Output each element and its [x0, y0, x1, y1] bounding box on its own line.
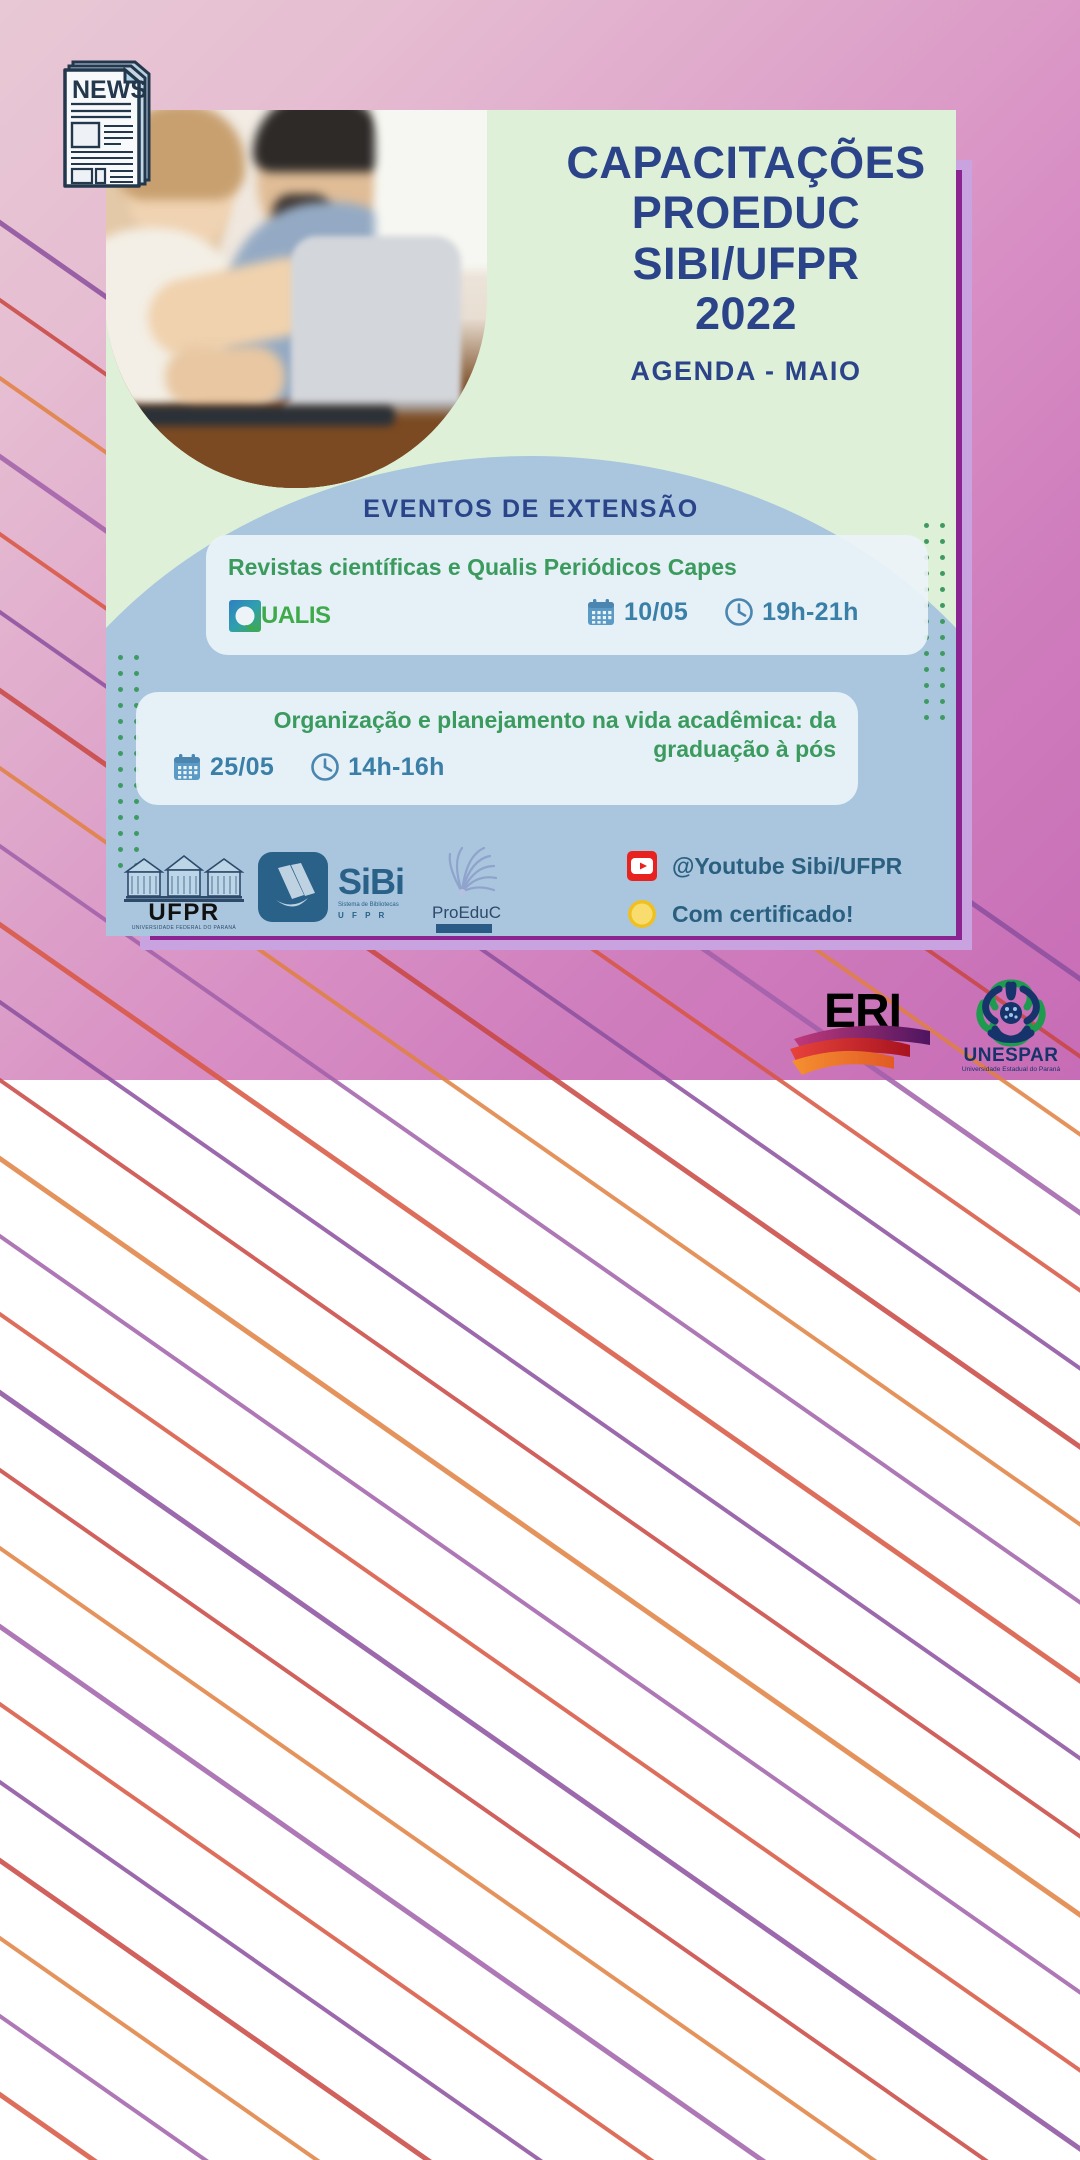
event-time-text: 14h-16h: [348, 753, 445, 782]
dot: [924, 715, 929, 720]
event-date-text: 25/05: [210, 753, 274, 782]
event-title: Revistas científicas e Qualis Periódicos…: [228, 553, 908, 582]
event-time: 14h-16h: [310, 752, 445, 782]
proeduc-logo-text: ProEduC: [432, 903, 501, 922]
dot: [940, 635, 945, 640]
clock-icon: [724, 597, 754, 627]
dot: [940, 683, 945, 688]
two-people-at-laptop-photo: [106, 110, 487, 488]
dot: [134, 655, 139, 660]
poster-title-block: CAPACITAÇÕES PROEDUC SIBI/UFPR 2022 AGEN…: [536, 138, 956, 387]
qualis-logo: UALIS: [228, 599, 331, 633]
title-line-1: CAPACITAÇÕES: [536, 138, 956, 188]
sibi-logo-subtext2: U F P R: [338, 911, 387, 920]
dot: [118, 783, 123, 788]
dot: [924, 651, 929, 656]
agenda-subtitle: AGENDA - MAIO: [536, 356, 956, 387]
dot: [940, 699, 945, 704]
event-meta: 25/05 14h-16h: [172, 752, 471, 782]
sibi-logo: SiBi Sistema de Bibliotecas U F P R: [258, 848, 406, 935]
dot: [134, 799, 139, 804]
poster-card: CAPACITAÇÕES PROEDUC SIBI/UFPR 2022 AGEN…: [106, 110, 956, 936]
certificate-row: Com certificado!: [626, 898, 902, 930]
dot: [940, 539, 945, 544]
background-stripe: [0, 1672, 1080, 2160]
event-meta: 10/05 19h-21h: [586, 597, 885, 627]
dot: [924, 683, 929, 688]
dot: [118, 815, 123, 820]
title-line-2: PROEDUC: [536, 188, 956, 238]
dot: [118, 767, 123, 772]
youtube-row[interactable]: @Youtube Sibi/UFPR: [626, 850, 902, 882]
calendar-icon: [586, 597, 616, 627]
eri-logo: ERI: [790, 975, 950, 1075]
sibi-logo-subtext: Sistema de Bibliotecas: [338, 902, 399, 908]
section-title: EVENTOS DE EXTENSÃO: [106, 495, 956, 524]
calendar-icon: [172, 752, 202, 782]
dot: [924, 539, 929, 544]
background-stripe: [0, 1360, 1080, 2160]
certificate-medal-icon: [626, 898, 658, 930]
event-date: 25/05: [172, 752, 274, 782]
dot: [118, 799, 123, 804]
dot: [118, 751, 123, 756]
unespar-logo-text: UNESPAR: [964, 1045, 1059, 1066]
ufpr-logo-subtext: UNIVERSIDADE FEDERAL DO PARANÁ: [132, 924, 237, 931]
certificate-text: Com certificado!: [672, 901, 853, 928]
ufpr-logo: UFPR UNIVERSIDADE FEDERAL DO PARANÁ: [120, 846, 248, 936]
ufpr-logo-text: UFPR: [148, 899, 219, 926]
dot: [134, 671, 139, 676]
event-card[interactable]: Organização e planejamento na vida acadê…: [136, 692, 858, 805]
youtube-icon: [626, 850, 658, 882]
dot: [940, 667, 945, 672]
dot: [940, 715, 945, 720]
dot: [118, 671, 123, 676]
dot: [134, 815, 139, 820]
dot: [940, 603, 945, 608]
dot: [924, 667, 929, 672]
dot: [118, 831, 123, 836]
title-line-4: 2022: [536, 289, 956, 339]
dot: [940, 555, 945, 560]
background-stripe: [0, 892, 1080, 2157]
qualis-logo-text: UALIS: [261, 602, 331, 630]
dot: [940, 619, 945, 624]
dot: [118, 655, 123, 660]
clock-icon: [310, 752, 340, 782]
event-time-text: 19h-21h: [762, 598, 859, 627]
dot: [940, 651, 945, 656]
background-stripe: [0, 1984, 1080, 2160]
newspaper-icon: NEWS: [55, 48, 155, 188]
event-card[interactable]: Revistas científicas e Qualis Periódicos…: [206, 535, 928, 655]
dot: [118, 735, 123, 740]
dot-column: [940, 523, 945, 731]
social-info: @Youtube Sibi/UFPR Com certificado!: [626, 850, 902, 936]
event-date: 10/05: [586, 597, 688, 627]
background-stripe: [0, 1048, 1080, 2160]
photo-container: [106, 110, 487, 488]
title-line-3: SIBI/UFPR: [536, 239, 956, 289]
unespar-logo: UNESPAR Universidade Estadual do Paraná: [955, 975, 1067, 1077]
dot: [940, 587, 945, 592]
news-icon-label: NEWS: [72, 76, 147, 104]
proeduc-logo: ProEduC: [422, 840, 508, 936]
dot: [924, 699, 929, 704]
dot: [118, 719, 123, 724]
event-time: 19h-21h: [724, 597, 859, 627]
dot: [940, 571, 945, 576]
event-date-text: 10/05: [624, 598, 688, 627]
dot: [118, 687, 123, 692]
youtube-text: @Youtube Sibi/UFPR: [672, 853, 902, 880]
dot: [134, 831, 139, 836]
dot: [134, 687, 139, 692]
dot: [118, 703, 123, 708]
unespar-logo-subtext: Universidade Estadual do Paraná: [962, 1066, 1061, 1073]
sibi-logo-text: SiBi: [338, 861, 404, 902]
